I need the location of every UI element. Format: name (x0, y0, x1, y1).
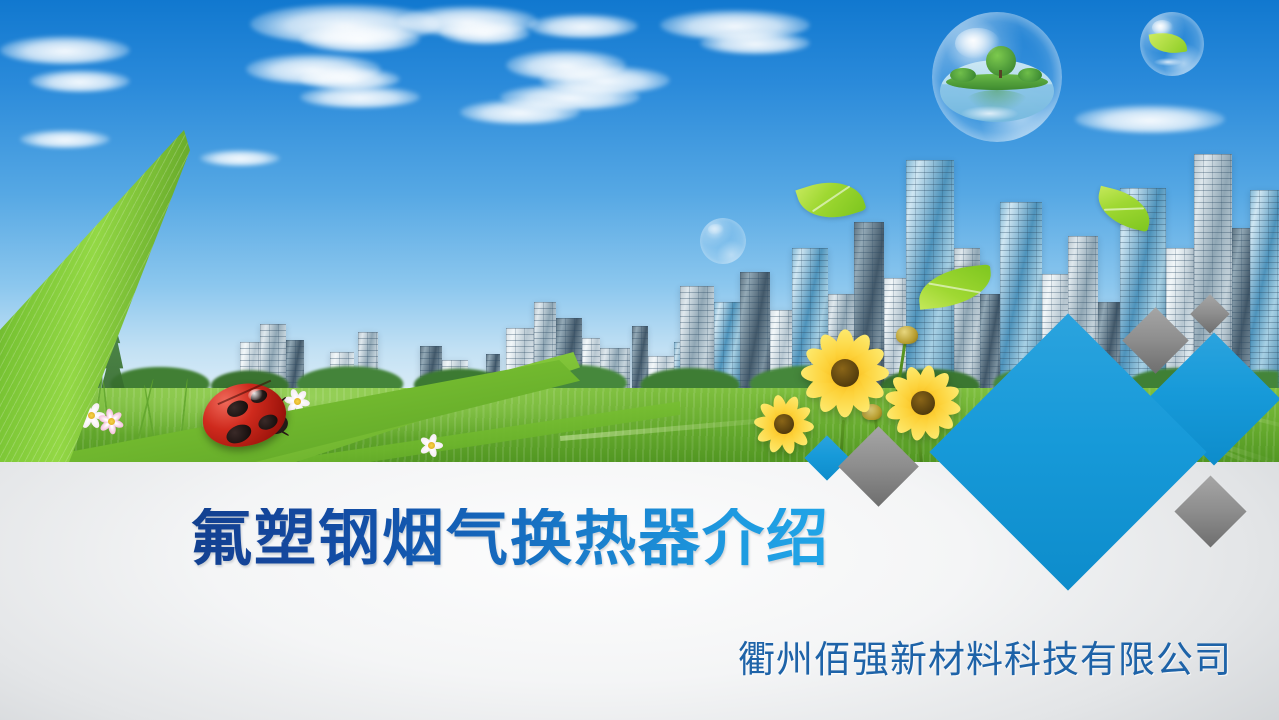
soap-bubble-large-icon (932, 12, 1062, 142)
soap-bubble-tiny-icon (700, 218, 746, 264)
cosmos-flower-icon (420, 434, 442, 456)
bubble-highlight (708, 224, 724, 235)
bubble-highlight (1154, 58, 1182, 66)
company-name: 衢州佰强新材料科技有限公司 (738, 641, 1232, 678)
ladybug-body (196, 376, 291, 454)
bubble-highlight (955, 28, 999, 59)
flower-center (108, 418, 115, 425)
ladybug-spot (256, 412, 280, 433)
yellow-flower-icon (876, 356, 970, 450)
bubble-shrub (1018, 68, 1042, 82)
ladybug-icon (196, 380, 292, 450)
bubble-highlight (961, 106, 1018, 122)
slide-title: 氟塑钢烟气换热器介绍 (190, 508, 830, 570)
cosmos-flower-icon (98, 408, 124, 434)
ladybug-spot (224, 397, 250, 420)
bubble-highlight (1152, 20, 1174, 35)
soap-bubble-small-icon (1140, 12, 1204, 76)
flower-center (428, 442, 435, 449)
hero-photo (0, 0, 1279, 462)
flower-center (294, 398, 301, 405)
ladybug-spot (224, 421, 255, 447)
yellow-flower-icon (1016, 398, 1080, 462)
flower-center (88, 412, 95, 419)
flower-center (774, 414, 794, 434)
flower-bud (968, 418, 985, 432)
yellow-flower-icon (746, 386, 822, 462)
title-slide: 氟塑钢烟气换热器介绍 衢州佰强新材料科技有限公司 (0, 0, 1279, 720)
bubble-shrub (950, 68, 976, 82)
title-panel (0, 462, 1279, 720)
